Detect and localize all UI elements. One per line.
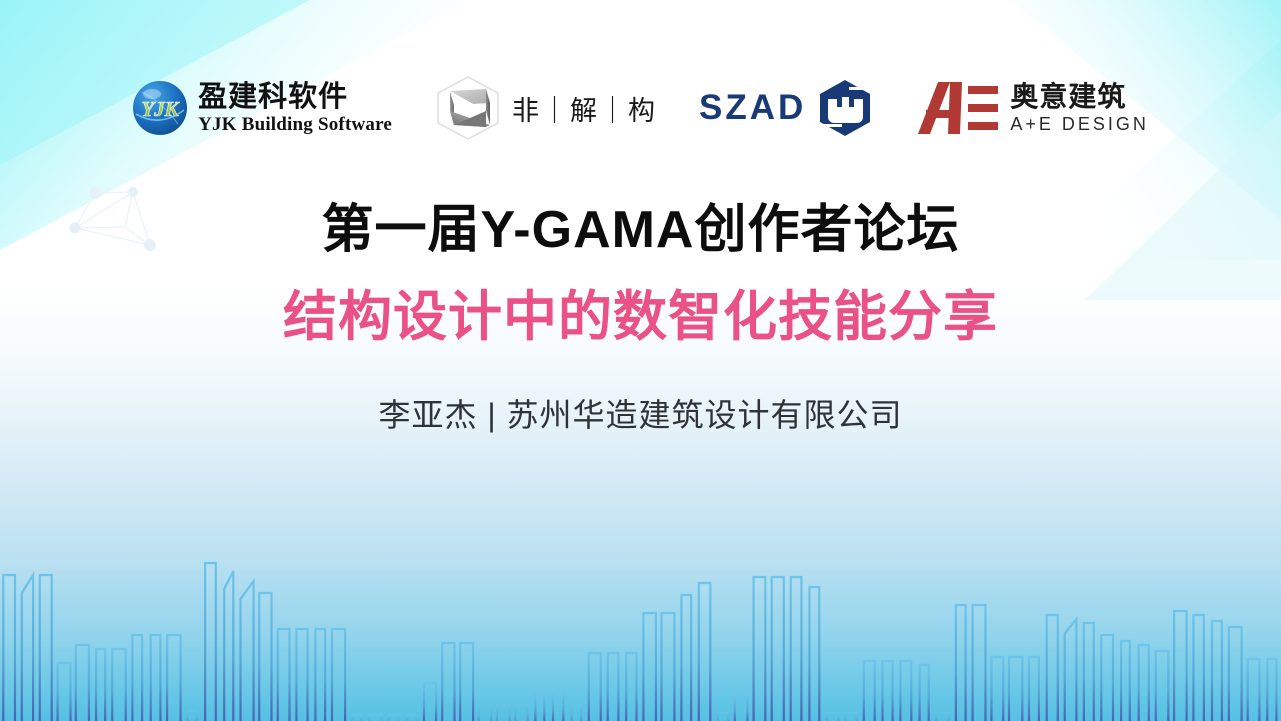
yjk-globe-icon: YJK	[132, 80, 188, 136]
logo-szad-label: SZAD	[699, 88, 806, 128]
logo-ae-cn-label: 奥意建筑	[1010, 83, 1149, 111]
presenter-line: 李亚杰 | 苏州华造建筑设计有限公司	[0, 390, 1281, 436]
sponsor-logo-bar: YJK 盈建科软件 YJK Building Software	[0, 62, 1281, 154]
topic-title: 结构设计中的数智化技能分享	[0, 285, 1281, 350]
logo-yjk-cn-label: 盈建科软件	[198, 83, 392, 112]
ae-monogram-icon	[916, 80, 1000, 136]
cube-ribbon-icon	[434, 75, 502, 141]
logo-feijiegou: 非｜解｜构	[434, 73, 657, 143]
svg-text:YJK: YJK	[141, 97, 180, 121]
logo-yjk-en-label: YJK Building Software	[198, 115, 392, 134]
szad-hexagon-icon	[816, 79, 874, 137]
logo-ae-design: 奥意建筑 A+E DESIGN	[916, 73, 1149, 143]
title-block: 第一届Y-GAMA创作者论坛 结构设计中的数智化技能分享 李亚杰 | 苏州华造建…	[0, 200, 1281, 436]
presentation-slide: YJK 盈建科软件 YJK Building Software	[0, 0, 1281, 721]
event-title: 第一届Y-GAMA创作者论坛	[0, 200, 1281, 261]
logo-yjk: YJK 盈建科软件 YJK Building Software	[132, 73, 392, 143]
logo-feijiegou-label: 非｜解｜构	[512, 89, 657, 128]
logo-ae-en-label: A+E DESIGN	[1010, 115, 1149, 133]
logo-szad: SZAD	[699, 73, 874, 143]
